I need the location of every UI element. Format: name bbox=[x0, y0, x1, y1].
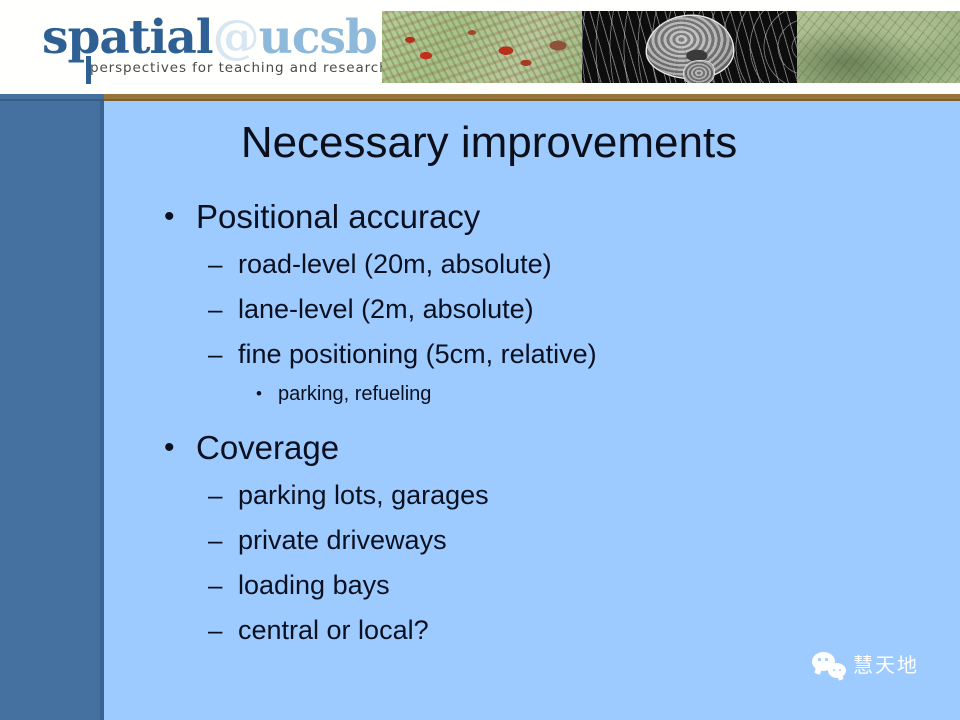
logo-word-ucsb: ucsb bbox=[259, 10, 377, 65]
bullet-marker-icon: • bbox=[164, 425, 175, 471]
bullet-marker-icon: – bbox=[208, 518, 222, 562]
bullet-item-level-2: –lane-level (2m, absolute) bbox=[104, 287, 960, 332]
bullet-item-level-2: –fine positioning (5cm, relative) bbox=[104, 332, 960, 377]
bullet-item-level-2: –road-level (20m, absolute) bbox=[104, 242, 960, 287]
slide-header: spatial@ucsb perspectives for teaching a… bbox=[0, 0, 960, 96]
wechat-watermark: 慧天地 bbox=[812, 652, 919, 678]
cerebellum-shape bbox=[684, 61, 714, 83]
watermark-label: 慧天地 bbox=[853, 653, 919, 677]
bullet-item-level-2: –parking lots, garages bbox=[104, 473, 960, 518]
logo-wordmark: spatial@ucsb bbox=[42, 12, 377, 64]
bullet-text: fine positioning (5cm, relative) bbox=[238, 332, 597, 376]
logo-at-symbol: @ bbox=[213, 10, 259, 65]
bullet-item-level-1: •Positional accuracy bbox=[104, 194, 960, 242]
bullet-item-level-1: •Coverage bbox=[104, 425, 960, 473]
bullet-marker-icon: • bbox=[256, 377, 262, 411]
page-title: Necessary improvements bbox=[104, 118, 874, 168]
bullet-text: private driveways bbox=[238, 518, 447, 562]
presentation-slide: spatial@ucsb perspectives for teaching a… bbox=[0, 0, 960, 720]
wechat-dot bbox=[825, 658, 828, 661]
wechat-dot bbox=[833, 669, 835, 671]
bullet-marker-icon: – bbox=[208, 242, 222, 286]
bullet-text: Coverage bbox=[196, 425, 339, 471]
bullet-marker-icon: – bbox=[208, 332, 222, 376]
slide-content: Necessary improvements •Positional accur… bbox=[104, 101, 960, 720]
logo-word-spatial: spatial bbox=[42, 10, 213, 65]
terrain-aerial-image bbox=[797, 11, 960, 83]
bullet-item-level-2: –private driveways bbox=[104, 518, 960, 563]
wechat-dot bbox=[818, 658, 821, 661]
header-image-strip bbox=[382, 11, 960, 83]
bullet-marker-icon: – bbox=[208, 563, 222, 607]
brain-mri-spiderweb-image bbox=[582, 11, 797, 83]
bullet-list: •Positional accuracy–road-level (20m, ab… bbox=[104, 194, 960, 653]
bullet-text: Positional accuracy bbox=[196, 194, 480, 240]
wechat-bubble-small bbox=[828, 663, 846, 678]
bullet-text: lane-level (2m, absolute) bbox=[238, 287, 534, 331]
bullet-item-level-2: –loading bays bbox=[104, 563, 960, 608]
bullet-item-level-2: –central or local? bbox=[104, 608, 960, 653]
spatial-ucsb-logo: spatial@ucsb perspectives for teaching a… bbox=[42, 12, 342, 82]
bullet-marker-icon: – bbox=[208, 608, 222, 652]
bullet-marker-icon: – bbox=[208, 473, 222, 517]
wechat-dot bbox=[839, 669, 841, 671]
bullet-text: road-level (20m, absolute) bbox=[238, 242, 552, 286]
logo-tagline: perspectives for teaching and research bbox=[90, 60, 389, 76]
bullet-item-level-3: •parking, refueling bbox=[104, 377, 960, 413]
wechat-icon bbox=[812, 652, 846, 678]
bullet-marker-icon: • bbox=[164, 194, 175, 240]
bullet-marker-icon: – bbox=[208, 287, 222, 331]
left-sidebar-band bbox=[0, 101, 104, 720]
bullet-text: parking lots, garages bbox=[238, 473, 489, 517]
bullet-text: central or local? bbox=[238, 608, 429, 652]
landcover-satellite-image bbox=[382, 11, 582, 83]
bullet-text: parking, refueling bbox=[278, 377, 431, 411]
bullet-text: loading bays bbox=[238, 563, 390, 607]
